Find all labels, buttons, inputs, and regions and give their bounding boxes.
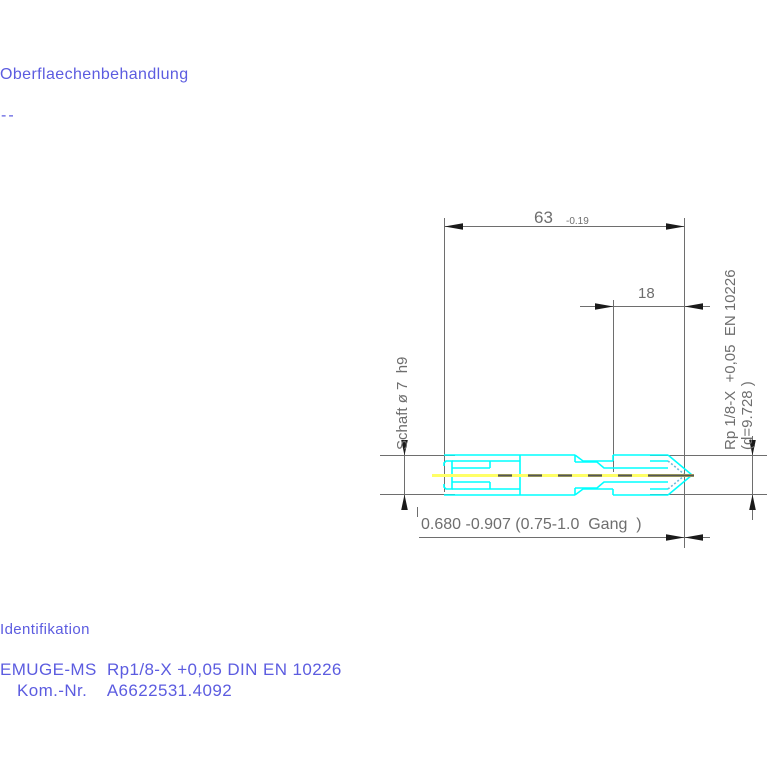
neck-core-top — [575, 462, 650, 468]
neck-core-bottom — [575, 482, 650, 488]
arrow-head-bottom — [749, 495, 756, 511]
arrow-head-left — [595, 303, 614, 310]
surface-treatment-value: -- — [1, 107, 16, 125]
dimension-total-length-tolerance: -0.19 — [566, 216, 589, 227]
extension-lines — [405, 218, 753, 548]
identification-label: Identifikation — [0, 621, 90, 638]
dimension-shank-label: Schaft ø 7 h9 — [394, 357, 411, 450]
arrow-head-right — [666, 223, 685, 230]
neck-taper-bottom — [575, 489, 613, 495]
dimension-total-length-value: 63 — [534, 208, 553, 228]
neck-taper-top — [575, 455, 613, 461]
dimension-shank-diameter — [401, 440, 408, 510]
arrow-head-left — [666, 534, 685, 541]
arrow-head-bottom — [401, 495, 408, 511]
technical-drawing-canvas — [0, 0, 767, 767]
arrow-head-left — [445, 223, 464, 230]
dimension-thread-spec: Rp 1/8-X +0,05 EN 10226 — [722, 269, 739, 450]
dimension-thread-length-value: 18 — [638, 285, 655, 302]
identification-order-number: Kom.-Nr. A6622531.4092 — [17, 681, 232, 701]
dimension-thread-length — [580, 303, 710, 310]
arrow-head-right — [685, 303, 704, 310]
arrow-head-right — [685, 534, 704, 541]
identification-designation: EMUGE-MS Rp1/8-X +0,05 DIN EN 10226 — [0, 660, 342, 680]
tip-chamfer-inner-top — [668, 461, 684, 474]
tip-chamfer-inner-bottom — [668, 476, 684, 489]
dimension-total-length — [445, 223, 685, 230]
surface-treatment-label: Oberflaechenbehandlung — [0, 66, 189, 84]
dimension-pitch-note: 0.680 -0.907 (0.75-1.0 Gang ) — [421, 516, 642, 534]
dimension-thread-pitch-diameter: (d=9.728 ) — [739, 381, 756, 450]
